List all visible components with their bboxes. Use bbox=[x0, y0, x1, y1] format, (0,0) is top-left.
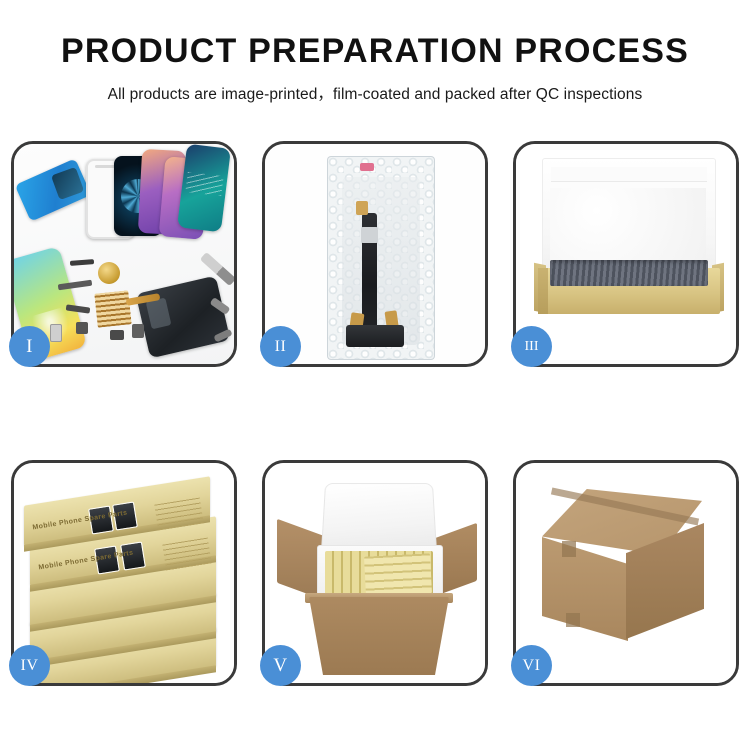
lcd-gold-connector-top bbox=[356, 201, 368, 215]
step-badge-2: II bbox=[260, 326, 301, 367]
lcd-bottom-assembly bbox=[346, 325, 404, 347]
step-3-image bbox=[516, 144, 736, 364]
process-step-grid: I II bbox=[11, 141, 739, 687]
process-step-1: I bbox=[11, 141, 237, 367]
product-preparation-infographic: PRODUCT PREPARATION PROCESS All products… bbox=[0, 0, 750, 750]
blue-adhesive-screen bbox=[15, 158, 92, 221]
step-badge-4: IV bbox=[9, 645, 50, 686]
teal-gradient-phone bbox=[177, 144, 231, 232]
process-step-6: VI bbox=[513, 460, 739, 686]
small-part-3 bbox=[76, 322, 88, 334]
phone-back-housing bbox=[136, 276, 231, 359]
process-step-2: II bbox=[262, 141, 488, 367]
outer-carton-body bbox=[309, 597, 449, 675]
carton-front-face bbox=[542, 537, 628, 641]
page-subtitle: All products are image-printed，film-coat… bbox=[0, 82, 750, 104]
step-badge-3: III bbox=[511, 326, 552, 367]
small-part-4 bbox=[110, 330, 124, 340]
process-step-3: III bbox=[513, 141, 739, 367]
sim-tray-part bbox=[50, 324, 62, 342]
step-badge-1: I bbox=[9, 326, 50, 367]
header: PRODUCT PREPARATION PROCESS All products… bbox=[0, 34, 750, 104]
step-5-image bbox=[265, 463, 485, 683]
small-part-1 bbox=[70, 259, 94, 266]
step-badge-5: V bbox=[260, 645, 301, 686]
kraft-tray bbox=[538, 268, 720, 314]
gold-coil-part bbox=[98, 262, 120, 284]
box-stack: Mobile Phone Spare Parts Mobile Phone Sp… bbox=[16, 479, 234, 675]
bubble-wrap-bag bbox=[327, 156, 435, 360]
process-step-4: Mobile Phone Spare Parts Mobile Phone Sp… bbox=[11, 460, 237, 686]
page-title: PRODUCT PREPARATION PROCESS bbox=[0, 34, 750, 68]
pink-qc-sticker bbox=[360, 163, 374, 171]
carton-tab-bottom bbox=[566, 613, 580, 627]
small-part-5 bbox=[132, 324, 144, 338]
step-6-image bbox=[516, 463, 736, 683]
step-badge-6: VI bbox=[511, 645, 552, 686]
carton-tab-top bbox=[562, 541, 576, 557]
packed-yellow-boxes-2 bbox=[364, 553, 432, 596]
step-1-image bbox=[14, 144, 234, 364]
gold-chip-grid bbox=[94, 290, 131, 327]
foam-sheet bbox=[550, 188, 706, 264]
step-4-image: Mobile Phone Spare Parts Mobile Phone Sp… bbox=[14, 463, 234, 683]
step-2-image bbox=[265, 144, 485, 364]
process-step-5: V bbox=[262, 460, 488, 686]
